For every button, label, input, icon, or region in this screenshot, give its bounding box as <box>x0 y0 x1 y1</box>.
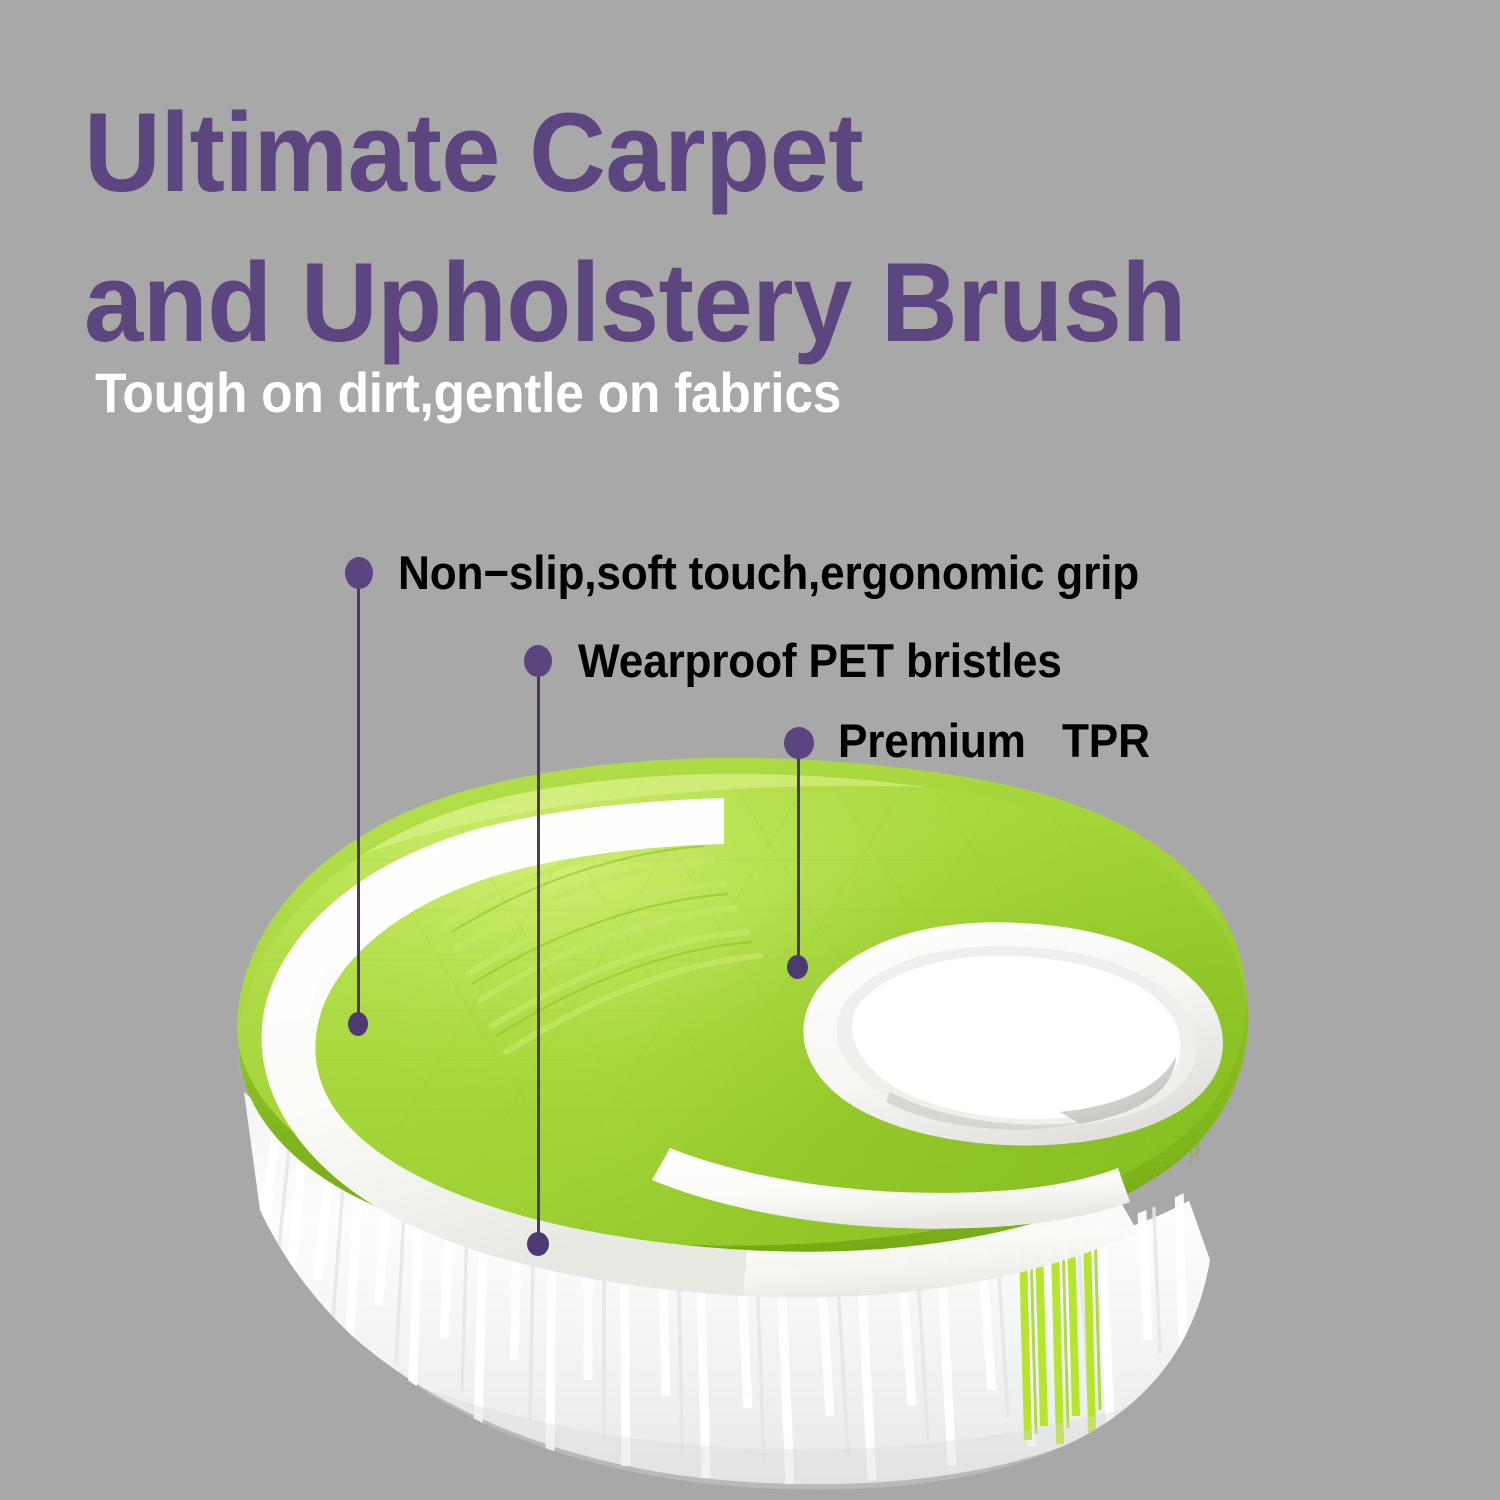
callout-label-grip: Non−slip,soft touch,ergonomic grip <box>398 548 1139 598</box>
leader-endpoint-dot-tpr <box>787 955 808 979</box>
bullet-dot-icon <box>345 557 373 589</box>
leader-line-grip <box>357 580 360 1028</box>
leader-line-tpr <box>797 755 800 970</box>
bullet-dot-icon <box>784 727 814 759</box>
leader-line-bristles <box>537 668 540 1246</box>
leader-endpoint-dot-bristles <box>527 1232 549 1256</box>
product-image <box>200 740 1280 1500</box>
title-line-2: and Upholstery Brush <box>84 228 1395 378</box>
page-title: Ultimate Carpet and Upholstery Brush <box>84 78 1464 378</box>
title-line-1: Ultimate Carpet <box>84 78 1395 228</box>
callout-label-tpr: Premium TPR <box>838 716 1150 766</box>
callout-label-bristles: Wearproof PET bristles <box>578 636 1062 686</box>
infographic-canvas: Ultimate Carpet and Upholstery Brush Tou… <box>0 0 1500 1500</box>
page-subtitle: Tough on dirt,gentle on fabrics <box>95 362 841 424</box>
bullet-dot-icon <box>524 645 552 677</box>
leader-endpoint-dot-grip <box>348 1012 368 1036</box>
